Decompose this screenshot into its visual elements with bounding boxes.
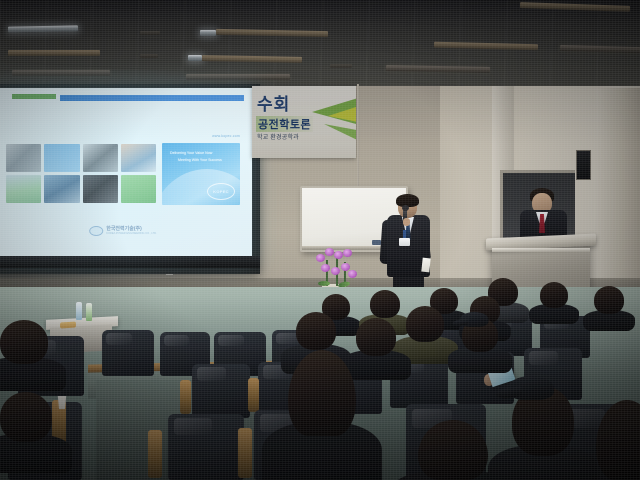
ceiling-light-fixture [8, 25, 78, 32]
seat-armrest [180, 380, 191, 414]
black-baseball-cap [460, 312, 489, 329]
ceiling-light-fixture [186, 74, 290, 80]
company-name-english: KOREA POWER ENGINEERING CO., LTD. [106, 233, 157, 236]
company-name-korean: 한국전력기술(주) [106, 227, 157, 232]
screen-bottom-bar [0, 256, 260, 268]
ceiling-texture [0, 0, 640, 92]
orchid-bloom [325, 248, 334, 256]
flower-leaf [318, 281, 330, 286]
slide-thumbnail-grid [6, 144, 156, 203]
banner-pole [357, 84, 359, 196]
water-bottle [76, 302, 82, 320]
slide-thumbnail [44, 144, 79, 172]
seat-armrest [238, 428, 252, 478]
orchid-bloom [341, 263, 350, 271]
slide-thumbnail [6, 144, 41, 172]
slide-thumbnail [83, 144, 118, 172]
orchid-bloom [316, 254, 325, 262]
orchid-bloom [321, 264, 330, 272]
slide-brand-badge: KOPEC [207, 183, 235, 200]
slide-thumbnail [44, 175, 79, 203]
orchid-bloom [343, 249, 352, 257]
ceiling-light-fixture [8, 50, 100, 56]
wall-pilaster [596, 88, 640, 302]
auditorium-seat [192, 364, 250, 418]
black-baseball-cap [508, 376, 554, 404]
audience-member-head [0, 320, 48, 364]
banner-shadow [252, 86, 356, 158]
audience-member-head [596, 400, 640, 480]
slide-url-text: www.kopec.com [212, 134, 240, 138]
audience-member-head [540, 282, 568, 308]
slide-tagline-line1: Delivering Your Value Now [170, 151, 212, 155]
projection-screen: www.kopec.com Delivering Your Value Now … [0, 84, 260, 274]
auditorium-seat [168, 414, 244, 480]
ceiling-vent [140, 31, 160, 35]
orchid-bloom [348, 270, 357, 278]
ceiling-light-fixture [200, 30, 216, 36]
audience-member-head [406, 306, 444, 342]
orchid-bloom [331, 267, 340, 275]
presenter-papers [421, 258, 430, 273]
audience-member-head [370, 290, 400, 318]
green-tea-bottle [86, 303, 92, 321]
seat-armrest [148, 430, 162, 478]
audience-member-head [288, 350, 356, 436]
event-banner: 수회 공전학토론 학교 환경공학과 [252, 86, 356, 158]
podium-edge [492, 248, 590, 252]
audience-member-head [0, 392, 52, 442]
slide-accent-bar-green [12, 94, 56, 99]
ceiling [0, 0, 640, 92]
microphone-head-icon [402, 205, 409, 211]
slide-thumbnail [6, 175, 41, 203]
slide-thumbnail [121, 175, 156, 203]
slide-thumbnail [121, 144, 156, 172]
ceiling-light-fixture [12, 70, 110, 76]
seat-armrest [248, 378, 259, 412]
slide-thumbnail [83, 175, 118, 203]
auditorium-seat [102, 330, 154, 376]
wall-speaker [576, 150, 591, 180]
audience-member-head [296, 312, 336, 350]
ceiling-light-fixture [188, 55, 202, 61]
slide-company-logo: 한국전력기술(주) KOREA POWER ENGINEERING CO., L… [89, 226, 157, 236]
audience-member-head [418, 420, 488, 480]
projected-slide: www.kopec.com Delivering Your Value Now … [0, 88, 252, 260]
slide-accent-bar-blue [60, 95, 244, 101]
photo-scene: www.kopec.com Delivering Your Value Now … [0, 0, 640, 480]
ceiling-vent [140, 54, 158, 58]
slide-blue-panel: Delivering Your Value Now Meeting With Y… [162, 143, 240, 205]
ceiling-vent [330, 64, 352, 68]
audience-member-head [594, 286, 624, 314]
orchid-bloom [334, 251, 343, 259]
company-logo-mark-icon [89, 226, 103, 236]
slide-tagline-line2: Meeting With Your Success [178, 158, 222, 162]
presenter-hand [403, 218, 410, 226]
audience-member-head [356, 318, 396, 356]
presenter-name-badge [399, 238, 410, 246]
snack-plate [60, 322, 76, 329]
